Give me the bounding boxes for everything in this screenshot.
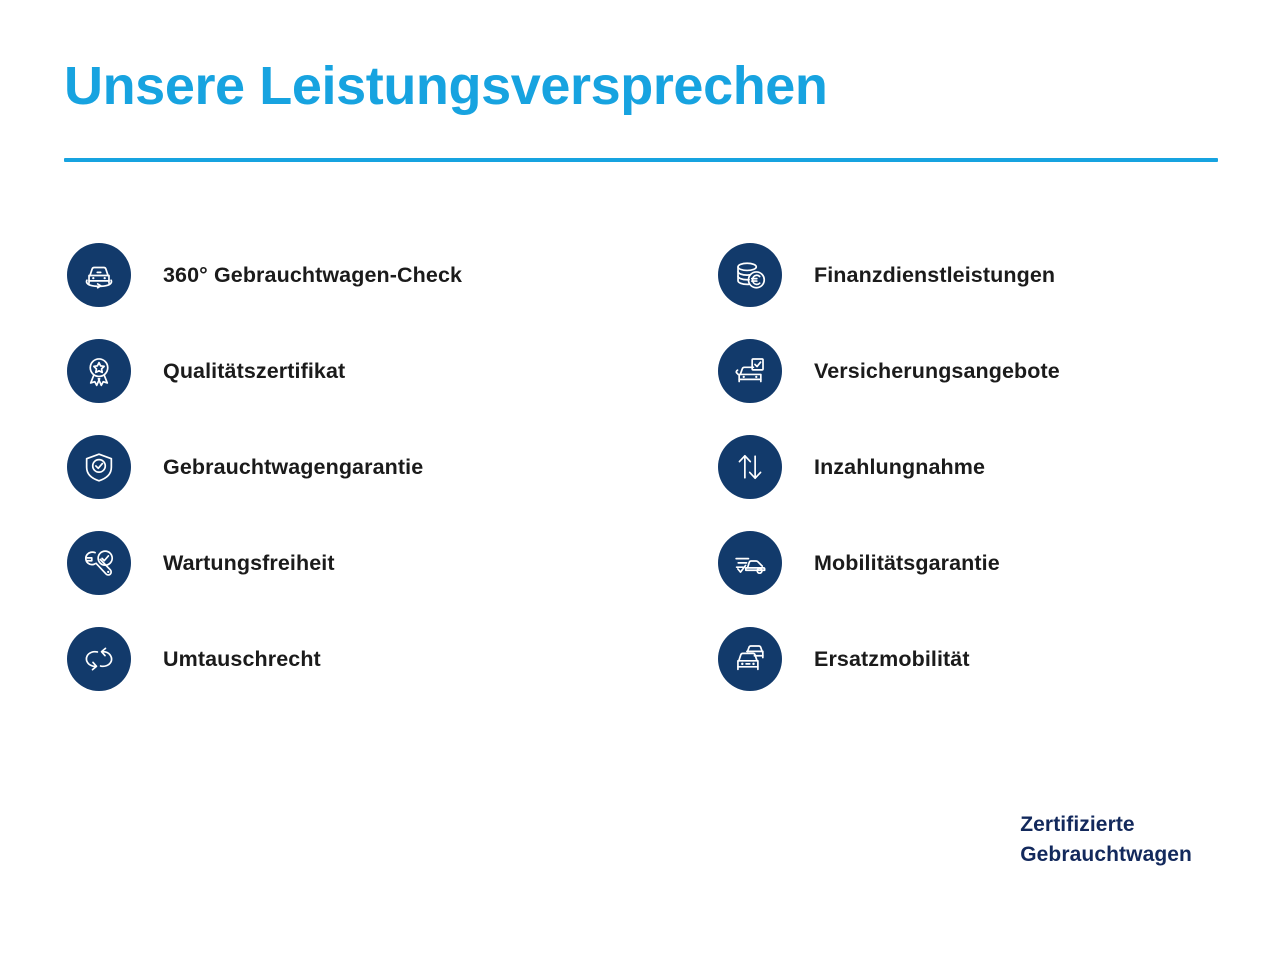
promise-item-gebrauchtwagengarantie[interactable]: Gebrauchtwagengarantie (67, 435, 652, 499)
brand-line-2: Gebrauchtwagen (1020, 840, 1192, 870)
promise-item-umtauschrecht[interactable]: Umtauschrecht (67, 627, 652, 691)
promise-item-360-check[interactable]: 360° Gebrauchtwagen-Check (67, 243, 652, 307)
brand-mark: Zertifizierte Gebrauchtwagen (1020, 810, 1192, 870)
two-cars-icon (718, 627, 782, 691)
promise-label: Gebrauchtwagengarantie (163, 455, 423, 480)
page-title: Unsere Leistungsversprechen (64, 58, 1218, 115)
promise-label: Ersatzmobilität (814, 647, 970, 672)
promise-label: Finanzdienstleistungen (814, 263, 1055, 288)
award-rosette-icon (67, 339, 131, 403)
promise-item-mobilitaetsgarantie[interactable]: Mobilitätsgarantie (718, 531, 1218, 595)
exchange-arrows-icon (67, 627, 131, 691)
promise-column-left: 360° Gebrauchtwagen-Check Qualitätszerti… (67, 243, 652, 691)
promise-item-ersatzmobilitaet[interactable]: Ersatzmobilität (718, 627, 1218, 691)
car-speed-icon (718, 531, 782, 595)
promise-item-finanzdienstleistungen[interactable]: Finanzdienstleistungen (718, 243, 1218, 307)
brand-line-1: Zertifizierte (1020, 810, 1192, 840)
promise-label: Qualitätszertifikat (163, 359, 345, 384)
car-360-check-icon (67, 243, 131, 307)
wrench-check-icon (67, 531, 131, 595)
promise-item-inzahlungnahme[interactable]: Inzahlungnahme (718, 435, 1218, 499)
promise-label: Inzahlungnahme (814, 455, 985, 480)
slide-root: Unsere Leistungsversprechen (0, 0, 1280, 960)
promise-item-wartungsfreiheit[interactable]: Wartungsfreiheit (67, 531, 652, 595)
promise-label: Umtauschrecht (163, 647, 321, 672)
coins-euro-icon (718, 243, 782, 307)
title-divider (64, 158, 1218, 162)
promise-item-qualitaetszertifikat[interactable]: Qualitätszertifikat (67, 339, 652, 403)
promise-item-versicherungsangebote[interactable]: Versicherungsangebote (718, 339, 1218, 403)
promise-label: 360° Gebrauchtwagen-Check (163, 263, 462, 288)
shield-check-icon (67, 435, 131, 499)
promise-label: Mobilitätsgarantie (814, 551, 1000, 576)
car-checkbox-icon (718, 339, 782, 403)
up-down-arrows-icon (718, 435, 782, 499)
promise-label: Versicherungsangebote (814, 359, 1060, 384)
promise-column-right: Finanzdienstleistungen Versicheru (718, 243, 1218, 691)
promise-grid: 360° Gebrauchtwagen-Check Qualitätszerti… (0, 243, 1280, 691)
header: Unsere Leistungsversprechen (64, 58, 1218, 162)
promise-label: Wartungsfreiheit (163, 551, 335, 576)
